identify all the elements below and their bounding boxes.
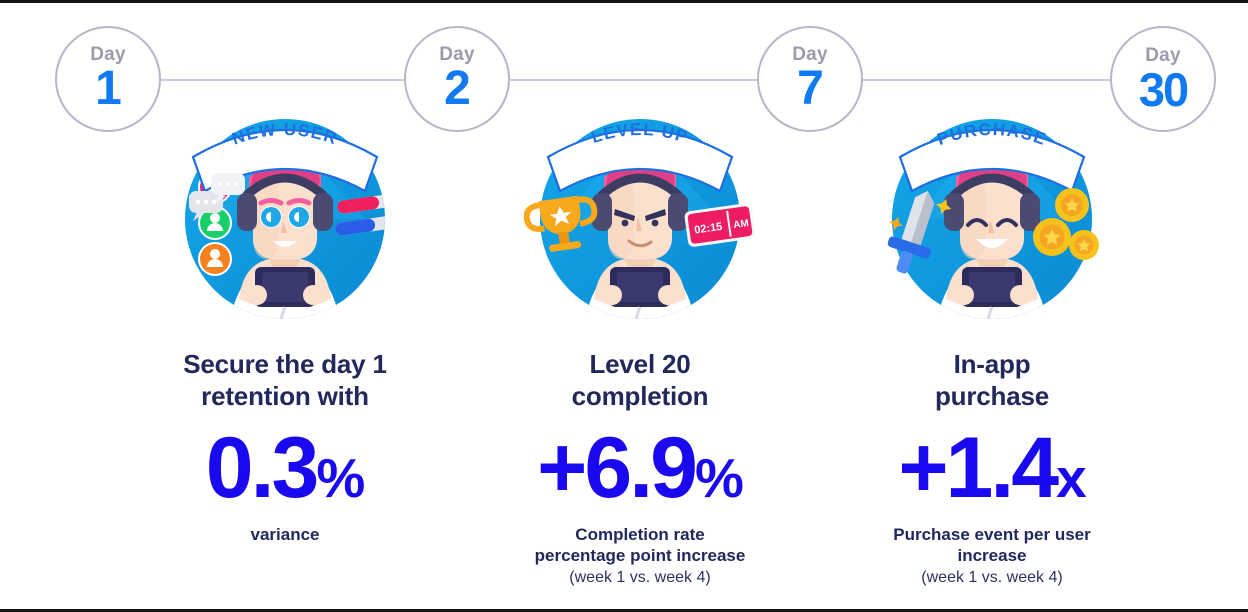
timeline-connector-2 (510, 79, 757, 81)
badge-purchase-illustration: PURCHASE (876, 99, 1108, 331)
title-line: retention with (125, 381, 445, 413)
stat-suffix: x (1056, 447, 1086, 509)
stat-note: (week 1 vs. week 4) (832, 568, 1152, 588)
stat-caption: Completion rate percentage point increas… (480, 524, 800, 567)
caption-line: percentage point increase (480, 545, 800, 566)
infographic-root: Day 1 Day 2 Day 7 Day 30 (0, 0, 1248, 612)
clock-meridiem: AM (733, 218, 750, 231)
caption-line: Completion rate (480, 524, 800, 545)
badge-new-user[interactable]: NEW USER (169, 99, 401, 331)
day-number: 7 (797, 65, 823, 113)
badge-new-user-illustration: NEW USER (169, 99, 401, 331)
title-line: purchase (832, 381, 1152, 413)
stat-suffix: % (695, 447, 743, 509)
stat-suffix: % (316, 447, 364, 509)
caption-line: variance (125, 524, 445, 545)
stat-main: +6.9 (537, 420, 695, 516)
column-purchase: PURCHASE (832, 99, 1152, 588)
stat-note: (week 1 vs. week 4) (480, 568, 800, 588)
stat-value: 0.3% (125, 428, 445, 510)
stat-caption: variance (125, 524, 445, 545)
day-number: 2 (444, 65, 470, 113)
badge-level-up-illustration: LEVEL UP 02:15 A (524, 99, 756, 331)
column-level-up: LEVEL UP 02:15 A (480, 99, 800, 588)
column-title: Secure the day 1 retention with (125, 349, 445, 412)
badge-level-up[interactable]: LEVEL UP 02:15 A (524, 99, 756, 331)
title-line: Level 20 (480, 349, 800, 381)
stat-value: +6.9% (480, 428, 800, 510)
stat-caption: Purchase event per user increase (832, 524, 1152, 567)
title-line: completion (480, 381, 800, 413)
stat-value: +1.4x (832, 428, 1152, 510)
caption-line: Purchase event per user (832, 524, 1152, 545)
timeline-connector-3 (863, 79, 1110, 81)
column-title: In-app purchase (832, 349, 1152, 412)
caption-line: increase (832, 545, 1152, 566)
day-label: Day (1145, 46, 1180, 65)
stat-main: +1.4 (898, 420, 1056, 516)
badge-purchase[interactable]: PURCHASE (876, 99, 1108, 331)
title-line: Secure the day 1 (125, 349, 445, 381)
day-number: 1 (95, 65, 121, 113)
timeline-connector-1 (161, 79, 404, 81)
column-new-user: NEW USER Secure the day 1 retention with (125, 99, 445, 545)
column-title: Level 20 completion (480, 349, 800, 412)
title-line: In-app (832, 349, 1152, 381)
stat-main: 0.3 (206, 420, 317, 516)
